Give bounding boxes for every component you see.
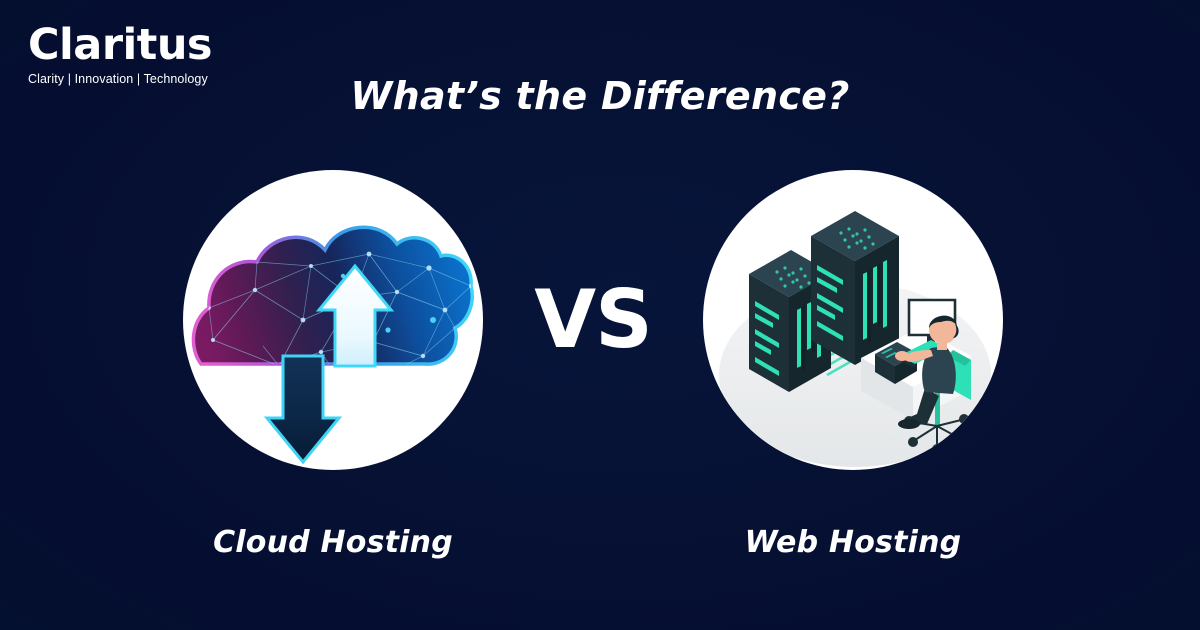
web-hosting-disc: [703, 170, 1003, 470]
versus-label: VS: [483, 270, 703, 370]
download-arrow: [267, 356, 339, 462]
cloud-hosting-disc: [183, 170, 483, 470]
cloud-network-sync-icon: [183, 170, 483, 470]
page-title: What’s the Difference?: [0, 74, 1200, 118]
web-hosting-caption: Web Hosting: [703, 525, 1003, 560]
comparison-item-web-hosting: Web Hosting: [703, 170, 1003, 470]
infographic-canvas: Claritus Clarity | Innovation | Technolo…: [0, 0, 1200, 630]
server-racks-workstation-icon: [703, 170, 1003, 470]
comparison-item-cloud-hosting: Cloud Hosting: [183, 170, 483, 470]
brand-name: Claritus: [28, 24, 228, 67]
cloud-hosting-caption: Cloud Hosting: [183, 525, 483, 560]
server-rack-tall: [811, 211, 899, 365]
